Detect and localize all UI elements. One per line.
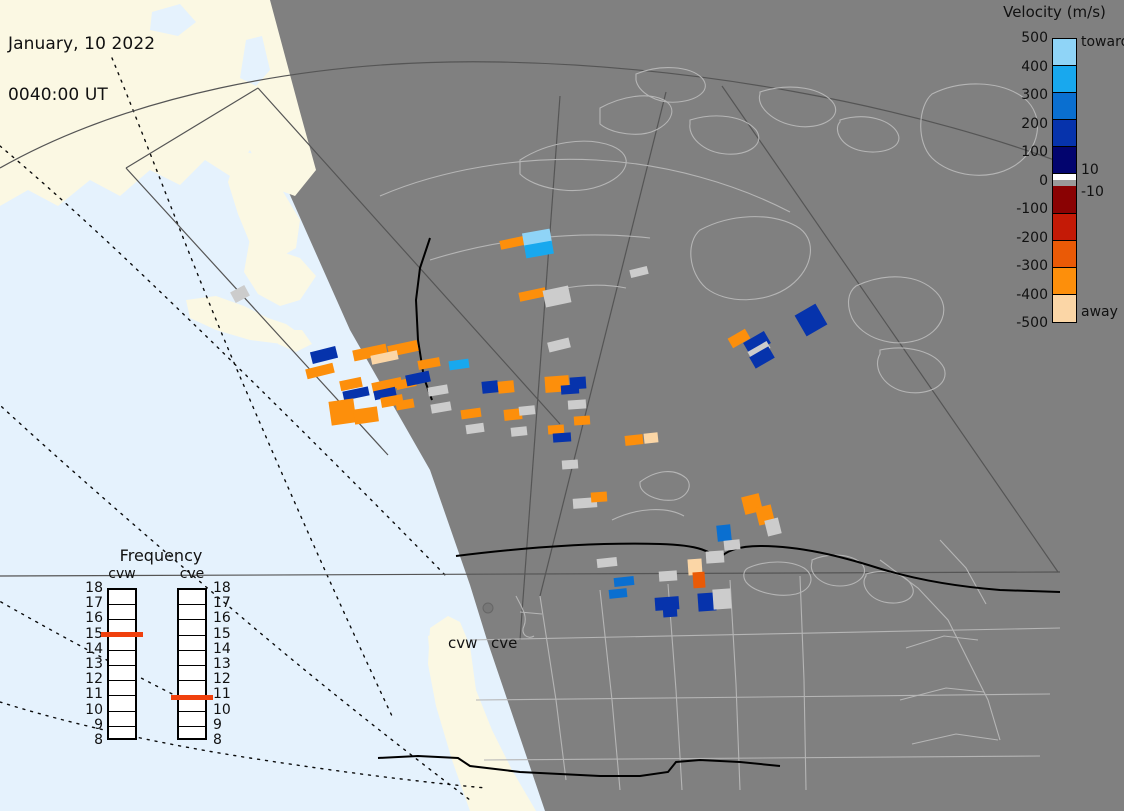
frequency-marker-cve [171, 695, 213, 700]
colorbar-tick: 200 [1021, 116, 1048, 132]
frequency-cell [179, 636, 205, 651]
radar-velocity-map: January, 10 2022 0040:00 UT Velocity (m/… [0, 0, 1124, 811]
site-label-cvw: cvw [448, 634, 477, 652]
frequency-cell [179, 666, 205, 681]
colorbar-band [1053, 93, 1076, 120]
frequency-tick-label: 9 [77, 717, 103, 733]
frequency-marker-cvw [101, 632, 143, 637]
colorbar-tick: -100 [1016, 201, 1048, 217]
frequency-cell [179, 605, 205, 620]
velocity-cell [692, 572, 705, 589]
colorbar-toward-label: toward [1081, 34, 1124, 50]
frequency-tick-label: 12 [213, 671, 231, 687]
frequency-cell [179, 620, 205, 635]
frequency-tick-label: 11 [77, 686, 103, 702]
timestamp-time: 0040:00 UT [8, 87, 155, 104]
velocity-cell [511, 426, 528, 437]
velocity-cell [724, 539, 741, 551]
frequency-tick-label: 8 [77, 732, 103, 748]
colorbar-band [1053, 186, 1076, 213]
colorbar-tick: 0 [1039, 173, 1048, 189]
colorbar-tick: -300 [1016, 258, 1048, 274]
frequency-cell [179, 712, 205, 727]
velocity-cell [591, 491, 608, 502]
velocity-cell [519, 405, 536, 416]
frequency-tick-label: 18 [213, 580, 231, 596]
frequency-tick-label: 14 [213, 641, 231, 657]
colorbar-band [1053, 268, 1076, 295]
frequency-cell [179, 681, 205, 696]
frequency-cell [109, 636, 135, 651]
colorbar-band [1053, 147, 1076, 174]
timestamp: January, 10 2022 0040:00 UT [8, 2, 155, 138]
frequency-cell [109, 712, 135, 727]
frequency-radar-name: cve [169, 566, 215, 582]
velocity-cell [659, 570, 678, 581]
frequency-cell [109, 666, 135, 681]
frequency-tick-label: 10 [213, 702, 231, 718]
frequency-cell [179, 590, 205, 605]
frequency-tick-label: 9 [213, 717, 222, 733]
frequency-tick-label: 15 [213, 626, 231, 642]
velocity-cell [568, 399, 587, 409]
colorbar-tick: 100 [1021, 144, 1048, 160]
velocity-cell [716, 524, 732, 541]
frequency-box [107, 588, 137, 740]
frequency-tick-label: 11 [213, 686, 231, 702]
frequency-tick-label: 18 [77, 580, 103, 596]
colorbar-band [1053, 120, 1076, 147]
velocity-cell [609, 588, 628, 599]
frequency-cell [109, 727, 135, 742]
frequency-tick-label: 17 [77, 595, 103, 611]
velocity-cell [625, 434, 644, 446]
colorbar-gradient [1052, 38, 1077, 323]
velocity-cell [712, 588, 731, 609]
velocity-cell [328, 398, 356, 425]
frequency-cell [109, 605, 135, 620]
frequency-panel: Frequency cvw18171615141312111098cve1817… [85, 546, 237, 778]
frequency-tick-label: 17 [213, 595, 231, 611]
frequency-radar-name: cvw [99, 566, 145, 582]
velocity-cell [553, 432, 572, 442]
colorbar-tick: -200 [1016, 230, 1048, 246]
frequency-tick-label: 13 [213, 656, 231, 672]
frequency-tick-label: 16 [77, 610, 103, 626]
frequency-tick-label: 16 [213, 610, 231, 626]
timestamp-date: January, 10 2022 [8, 36, 155, 53]
velocity-cell [497, 380, 514, 394]
frequency-tick-label: 13 [77, 656, 103, 672]
velocity-cell [481, 380, 498, 394]
frequency-cell [179, 651, 205, 666]
frequency-cell [109, 590, 135, 605]
frequency-title: Frequency [85, 546, 237, 565]
frequency-cell [109, 696, 135, 711]
colorbar-tick: -400 [1016, 287, 1048, 303]
velocity-cell [663, 605, 678, 618]
frequency-box [177, 588, 207, 740]
site-label-cve: cve [491, 634, 517, 652]
colorbar-band [1053, 241, 1076, 268]
frequency-cell [109, 651, 135, 666]
colorbar-title: Velocity (m/s) [985, 3, 1124, 21]
frequency-tick-label: 14 [77, 641, 103, 657]
colorbar-away-label: away [1081, 304, 1118, 320]
colorbar-inner-low-label: -10 [1081, 184, 1104, 200]
frequency-tick-label: 8 [213, 732, 222, 748]
colorbar-tick: 400 [1021, 59, 1048, 75]
colorbar-band [1053, 66, 1076, 93]
colorbar-tick: 500 [1021, 30, 1048, 46]
velocity-cell [562, 459, 579, 469]
velocity-cell [570, 376, 587, 389]
frequency-tick-label: 10 [77, 702, 103, 718]
frequency-tick-label: 12 [77, 671, 103, 687]
colorbar-band [1053, 39, 1076, 66]
velocity-colorbar: Velocity (m/s) 5004003002001000-100-200-… [985, 0, 1124, 340]
velocity-cell [706, 550, 725, 563]
colorbar-inner-high-label: 10 [1081, 162, 1099, 178]
colorbar-band [1053, 295, 1076, 322]
frequency-cell [109, 681, 135, 696]
colorbar-tick: 300 [1021, 87, 1048, 103]
velocity-cell [644, 432, 659, 443]
colorbar-tick: -500 [1016, 315, 1048, 331]
frequency-tick-label: 15 [77, 626, 103, 642]
velocity-cell [574, 415, 591, 425]
frequency-cell [179, 727, 205, 742]
colorbar-band [1053, 214, 1076, 241]
